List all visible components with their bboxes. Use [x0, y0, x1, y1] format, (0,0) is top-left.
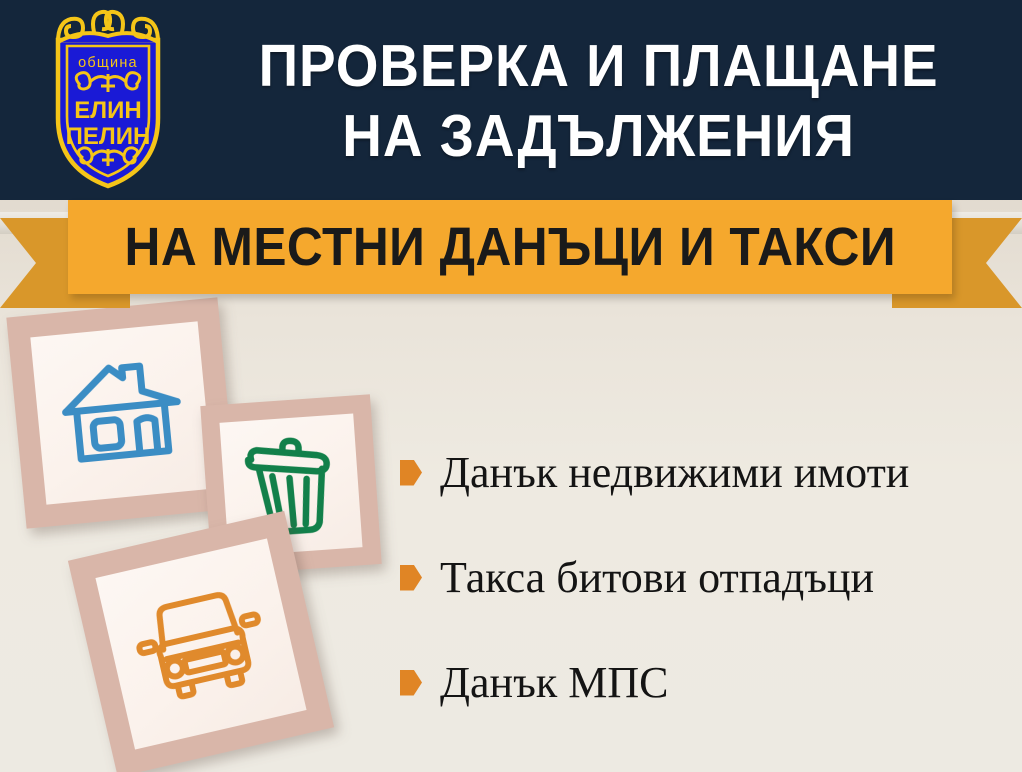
- poster-canvas: община ЕЛИН ПЕЛИН ПРОВЕРКА И П: [0, 0, 1022, 772]
- municipality-logo: община ЕЛИН ПЕЛИН: [38, 6, 178, 192]
- bullet-arrow-icon: [400, 460, 422, 486]
- svg-text:община: община: [78, 55, 138, 71]
- ribbon-text: НА МЕСТНИ ДАНЪЦИ И ТАКСИ: [124, 217, 896, 277]
- list-item[interactable]: Такса битови отпадъци: [400, 525, 1014, 630]
- svg-text:ПЕЛИН: ПЕЛИН: [66, 123, 151, 150]
- stamp-card-group: [0, 300, 420, 772]
- subtitle-ribbon: НА МЕСТНИ ДАНЪЦИ И ТАКСИ: [0, 198, 1022, 308]
- bullet-arrow-icon: [400, 565, 422, 591]
- tax-types-list: Данък недвижими имоти Такса битови отпад…: [400, 420, 1014, 735]
- page-title-line-2: НА ЗАДЪЛЖЕНИЯ: [343, 101, 856, 171]
- ribbon-banner: НА МЕСТНИ ДАНЪЦИ И ТАКСИ: [68, 200, 952, 294]
- list-item[interactable]: Данък недвижими имоти: [400, 420, 1014, 525]
- page-title: ПРОВЕРКА И ПЛАЩАНЕ НА ЗАДЪЛЖЕНИЯ: [186, 16, 1012, 186]
- list-item-label: Такса битови отпадъци: [440, 552, 874, 604]
- house-icon: [30, 321, 213, 504]
- bullet-arrow-icon: [400, 670, 422, 696]
- svg-text:ЕЛИН: ЕЛИН: [74, 97, 141, 124]
- list-item-label: Данък МПС: [440, 657, 668, 709]
- list-item[interactable]: Данък МПС: [400, 630, 1014, 735]
- list-item-label: Данък недвижими имоти: [440, 447, 909, 499]
- page-title-line-1: ПРОВЕРКА И ПЛАЩАНЕ: [259, 31, 939, 101]
